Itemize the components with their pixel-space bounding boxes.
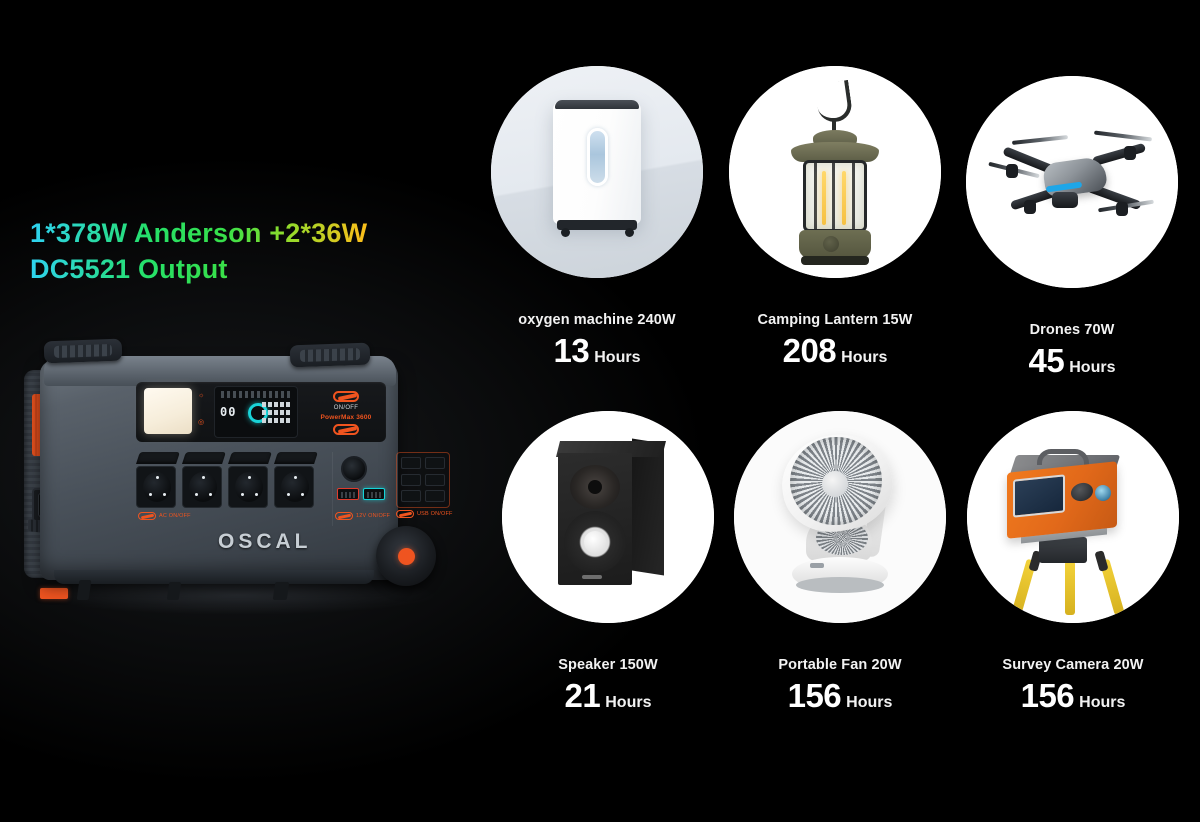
station-base-rail <box>54 570 374 584</box>
page-title: 1*378W Anderson +2*36W DC5521 Output <box>30 216 450 287</box>
dc-power-button-icon-2 <box>335 512 353 520</box>
device-name: oxygen machine 240W <box>477 312 717 328</box>
support-foot-3 <box>273 582 290 600</box>
device-name: Survey Camera 20W <box>953 657 1193 673</box>
usb-output-group: USB ON/OFF <box>396 452 454 532</box>
runtime-value: 21 Hours <box>488 679 728 712</box>
dc-power-button-icon <box>333 424 359 435</box>
ac-socket-1 <box>136 466 176 508</box>
runtime-hours: 208 <box>783 334 837 367</box>
usb-port-grid <box>396 452 450 508</box>
lcd-output-readout <box>262 402 292 426</box>
runtime-hours: 156 <box>788 679 842 712</box>
brand-logo: OSCAL <box>218 530 312 554</box>
dc5521-port-1 <box>337 488 359 500</box>
dc5521-ports <box>337 488 385 500</box>
ac-socket-2 <box>182 466 222 508</box>
power-button-icon <box>333 391 359 402</box>
product-photo-drone <box>966 76 1178 288</box>
lcd-input-value: 00 <box>220 405 236 419</box>
carry-handle-right <box>290 343 371 368</box>
lcd-display: 00 <box>214 386 298 438</box>
runtime-hours: 45 <box>1029 344 1065 377</box>
runtime-hours: 13 <box>554 334 590 367</box>
product-photo-oxygen-machine <box>491 66 703 278</box>
runtime-unit: Hours <box>605 694 651 712</box>
lcd-status-bar <box>221 391 291 398</box>
sos-icon: ◎ <box>198 418 204 426</box>
device-name: Portable Fan 20W <box>720 657 960 673</box>
ac-power-button-icon <box>138 512 156 520</box>
runtime-unit: Hours <box>1069 359 1115 377</box>
ac-onoff-label: AC ON/OFF <box>138 512 191 520</box>
runtime-unit: Hours <box>841 349 887 367</box>
runtime-value: 208 Hours <box>715 334 955 367</box>
station-right-controls: ON/OFF PowerMax 3600 <box>310 384 382 442</box>
power-station-product-image: ☼ ◎ 00 ON/OFF PowerMax 3600 <box>18 330 458 630</box>
support-foot-2 <box>167 582 182 600</box>
product-photo-survey-camera <box>967 411 1179 623</box>
device-name: Drones 70W <box>952 322 1192 338</box>
runtime-hours: 156 <box>1021 679 1075 712</box>
dc5521-port-2 <box>363 488 385 500</box>
runtime-value: 156 Hours <box>720 679 960 712</box>
car-cigarette-socket <box>341 456 367 482</box>
runtime-unit: Hours <box>1079 694 1125 712</box>
runtime-card-grid: oxygen machine 240W 13 Hours Ca <box>470 66 1200 746</box>
product-photo-portable-fan <box>734 411 946 623</box>
ac-outlet-group: AC ON/OFF <box>136 452 326 524</box>
device-name: Speaker 150W <box>488 657 728 673</box>
product-photo-speaker <box>502 411 714 623</box>
runtime-hours: 21 <box>565 679 601 712</box>
transport-wheel <box>376 526 436 586</box>
onoff-label-top: ON/OFF <box>334 405 358 411</box>
usb-power-button-icon <box>396 510 414 518</box>
model-name: PowerMax 3600 <box>320 414 371 421</box>
dc-onoff-label: 12V ON/OFF <box>335 512 390 520</box>
led-work-light <box>144 388 192 434</box>
ac-socket-4 <box>274 466 314 508</box>
carry-handle-left <box>44 339 123 364</box>
runtime-value: 13 Hours <box>477 334 717 367</box>
runtime-value: 45 Hours <box>952 344 1192 377</box>
runtime-unit: Hours <box>846 694 892 712</box>
light-mode-icon: ☼ <box>198 392 204 399</box>
runtime-unit: Hours <box>594 349 640 367</box>
dc-output-group: 12V ON/OFF <box>332 452 396 526</box>
ac-socket-3 <box>228 466 268 508</box>
runtime-value: 156 Hours <box>953 679 1193 712</box>
device-name: Camping Lantern 15W <box>715 312 955 328</box>
product-photo-camping-lantern <box>729 66 941 278</box>
usb-onoff-label: USB ON/OFF <box>396 510 453 518</box>
side-orange-button <box>40 588 68 599</box>
